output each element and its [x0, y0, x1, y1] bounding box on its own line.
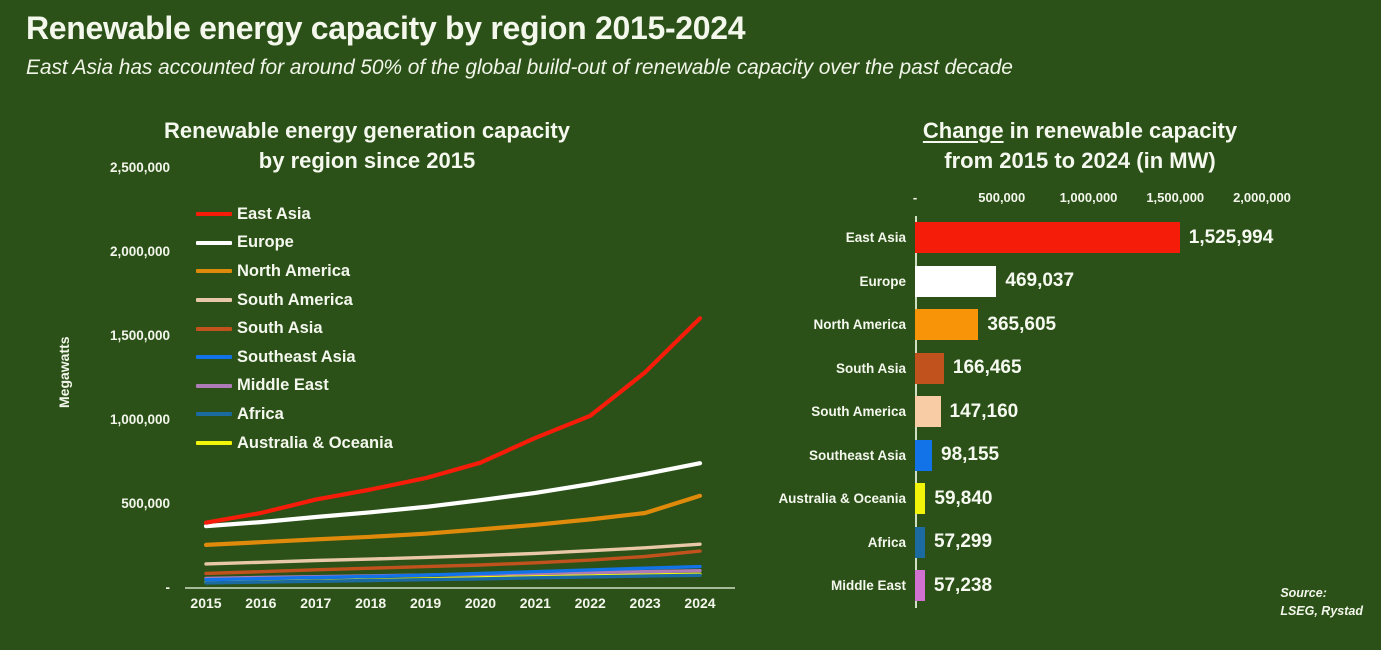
bar-row-australia-oceania[interactable]: Australia & Oceania59,840: [760, 477, 1381, 521]
bar-row-north-america[interactable]: North America365,605: [760, 303, 1381, 347]
bar-track: 1,525,994: [915, 216, 1381, 260]
legend-item-east-asia[interactable]: East Asia: [196, 200, 393, 229]
x-axis-tick: 2024: [684, 595, 715, 611]
header: Renewable energy capacity by region 2015…: [26, 10, 1366, 80]
source-label: Source:: [1280, 584, 1363, 602]
bar-category-label: East Asia: [760, 230, 915, 245]
bar-value-label: 469,037: [1005, 270, 1074, 292]
bar-row-africa[interactable]: Africa57,299: [760, 521, 1381, 565]
bar-axis-tick: 1,000,000: [1060, 190, 1118, 205]
bar-fill: [915, 266, 996, 297]
legend-label: South Asia: [237, 319, 323, 338]
legend-swatch-icon: [196, 327, 232, 331]
legend-swatch-icon: [196, 412, 232, 416]
line-chart-area: Megawatts 2,500,000 2,000,000 1,500,000 …: [0, 108, 760, 648]
bar-track: 166,465: [915, 347, 1381, 391]
bar-chart-title-line1: Change in renewable capacity: [800, 116, 1360, 146]
bar-axis-tick: 1,500,000: [1146, 190, 1204, 205]
bar-row-east-asia[interactable]: East Asia1,525,994: [760, 216, 1381, 260]
legend-swatch-icon: [196, 384, 232, 388]
x-axis-tick: 2015: [190, 595, 221, 611]
bar-fill: [915, 440, 932, 471]
legend-swatch-icon: [196, 241, 232, 245]
bar-axis-tick: -: [913, 190, 917, 205]
bar-chart-title-rest: in renewable capacity: [1004, 118, 1238, 143]
legend-swatch-icon: [196, 212, 232, 216]
legend-item-middle-east[interactable]: Middle East: [196, 372, 393, 401]
bar-value-label: 98,155: [941, 444, 999, 466]
bar-row-southeast-asia[interactable]: Southeast Asia98,155: [760, 434, 1381, 478]
bar-fill: [915, 222, 1180, 253]
x-axis-ticks: 2015201620172018201920202021202220232024: [0, 595, 760, 625]
legend-label: East Asia: [237, 205, 311, 224]
legend-item-southeast-asia[interactable]: Southeast Asia: [196, 343, 393, 372]
bar-category-label: Europe: [760, 274, 915, 289]
bar-fill: [915, 353, 944, 384]
line-chart-legend: East AsiaEuropeNorth AmericaSouth Americ…: [196, 200, 393, 457]
bar-row-south-asia[interactable]: South Asia166,465: [760, 347, 1381, 391]
bar-rows: East Asia1,525,994Europe469,037North Ame…: [760, 216, 1381, 608]
legend-item-australia-oceania[interactable]: Australia & Oceania: [196, 429, 393, 458]
bar-axis-tick: 2,000,000: [1233, 190, 1291, 205]
legend-label: Africa: [237, 405, 284, 424]
bar-track: 469,037: [915, 260, 1381, 304]
bar-category-label: South America: [760, 404, 915, 419]
bar-category-label: Africa: [760, 535, 915, 550]
bar-track: 98,155: [915, 434, 1381, 478]
bar-chart-panel: Change in renewable capacity from 2015 t…: [760, 108, 1381, 648]
legend-label: South America: [237, 291, 353, 310]
bar-chart-title-underlined: Change: [923, 118, 1004, 143]
bar-track: 365,605: [915, 303, 1381, 347]
bar-category-label: Southeast Asia: [760, 448, 915, 463]
source-value: LSEG, Rystad: [1280, 602, 1363, 620]
bar-chart-title-line2: from 2015 to 2024 (in MW): [800, 146, 1360, 176]
legend-item-south-asia[interactable]: South Asia: [196, 314, 393, 343]
bar-fill: [915, 570, 925, 601]
bar-value-label: 166,465: [953, 357, 1022, 379]
line-series-south-america: [206, 544, 700, 564]
legend-item-south-america[interactable]: South America: [196, 286, 393, 315]
bar-category-label: North America: [760, 317, 915, 332]
bar-chart-title: Change in renewable capacity from 2015 t…: [800, 108, 1360, 175]
legend-swatch-icon: [196, 355, 232, 359]
x-axis-tick: 2020: [465, 595, 496, 611]
bar-row-europe[interactable]: Europe469,037: [760, 260, 1381, 304]
x-axis-tick: 2022: [575, 595, 606, 611]
bar-value-label: 1,525,994: [1189, 227, 1274, 249]
bar-category-label: South Asia: [760, 361, 915, 376]
x-axis-tick: 2021: [520, 595, 551, 611]
legend-label: Middle East: [237, 376, 329, 395]
bar-row-south-america[interactable]: South America147,160: [760, 390, 1381, 434]
legend-item-europe[interactable]: Europe: [196, 229, 393, 258]
x-axis-tick: 2016: [245, 595, 276, 611]
bar-value-label: 59,840: [934, 488, 992, 510]
bar-value-label: 57,238: [934, 575, 992, 597]
x-axis-tick: 2017: [300, 595, 331, 611]
bar-track: 147,160: [915, 390, 1381, 434]
bar-value-label: 147,160: [950, 401, 1019, 423]
legend-item-africa[interactable]: Africa: [196, 400, 393, 429]
source-note: Source: LSEG, Rystad: [1280, 584, 1363, 620]
bar-fill: [915, 309, 978, 340]
bar-axis-tick: 500,000: [978, 190, 1025, 205]
page-title: Renewable energy capacity by region 2015…: [26, 10, 1366, 47]
bar-fill: [915, 527, 925, 558]
x-axis-tick: 2018: [355, 595, 386, 611]
bar-track: 59,840: [915, 477, 1381, 521]
page-subtitle: East Asia has accounted for around 50% o…: [26, 56, 1366, 80]
bar-track: 57,299: [915, 521, 1381, 565]
x-axis-tick: 2019: [410, 595, 441, 611]
legend-swatch-icon: [196, 269, 232, 273]
bar-value-label: 365,605: [987, 314, 1056, 336]
legend-label: Southeast Asia: [237, 348, 356, 367]
legend-item-north-america[interactable]: North America: [196, 257, 393, 286]
legend-label: Australia & Oceania: [237, 434, 393, 453]
x-axis-tick: 2023: [630, 595, 661, 611]
bar-value-label: 57,299: [934, 531, 992, 553]
bar-fill: [915, 396, 941, 427]
legend-label: North America: [237, 262, 350, 281]
legend-swatch-icon: [196, 298, 232, 302]
legend-label: Europe: [237, 233, 294, 252]
line-chart-panel: Renewable energy generation capacity by …: [0, 108, 760, 648]
bar-category-label: Middle East: [760, 578, 915, 593]
bar-category-label: Australia & Oceania: [760, 491, 915, 506]
legend-swatch-icon: [196, 441, 232, 445]
bar-fill: [915, 483, 925, 514]
bar-x-axis-ticks: -500,0001,000,0001,500,0002,000,000: [760, 190, 1381, 212]
